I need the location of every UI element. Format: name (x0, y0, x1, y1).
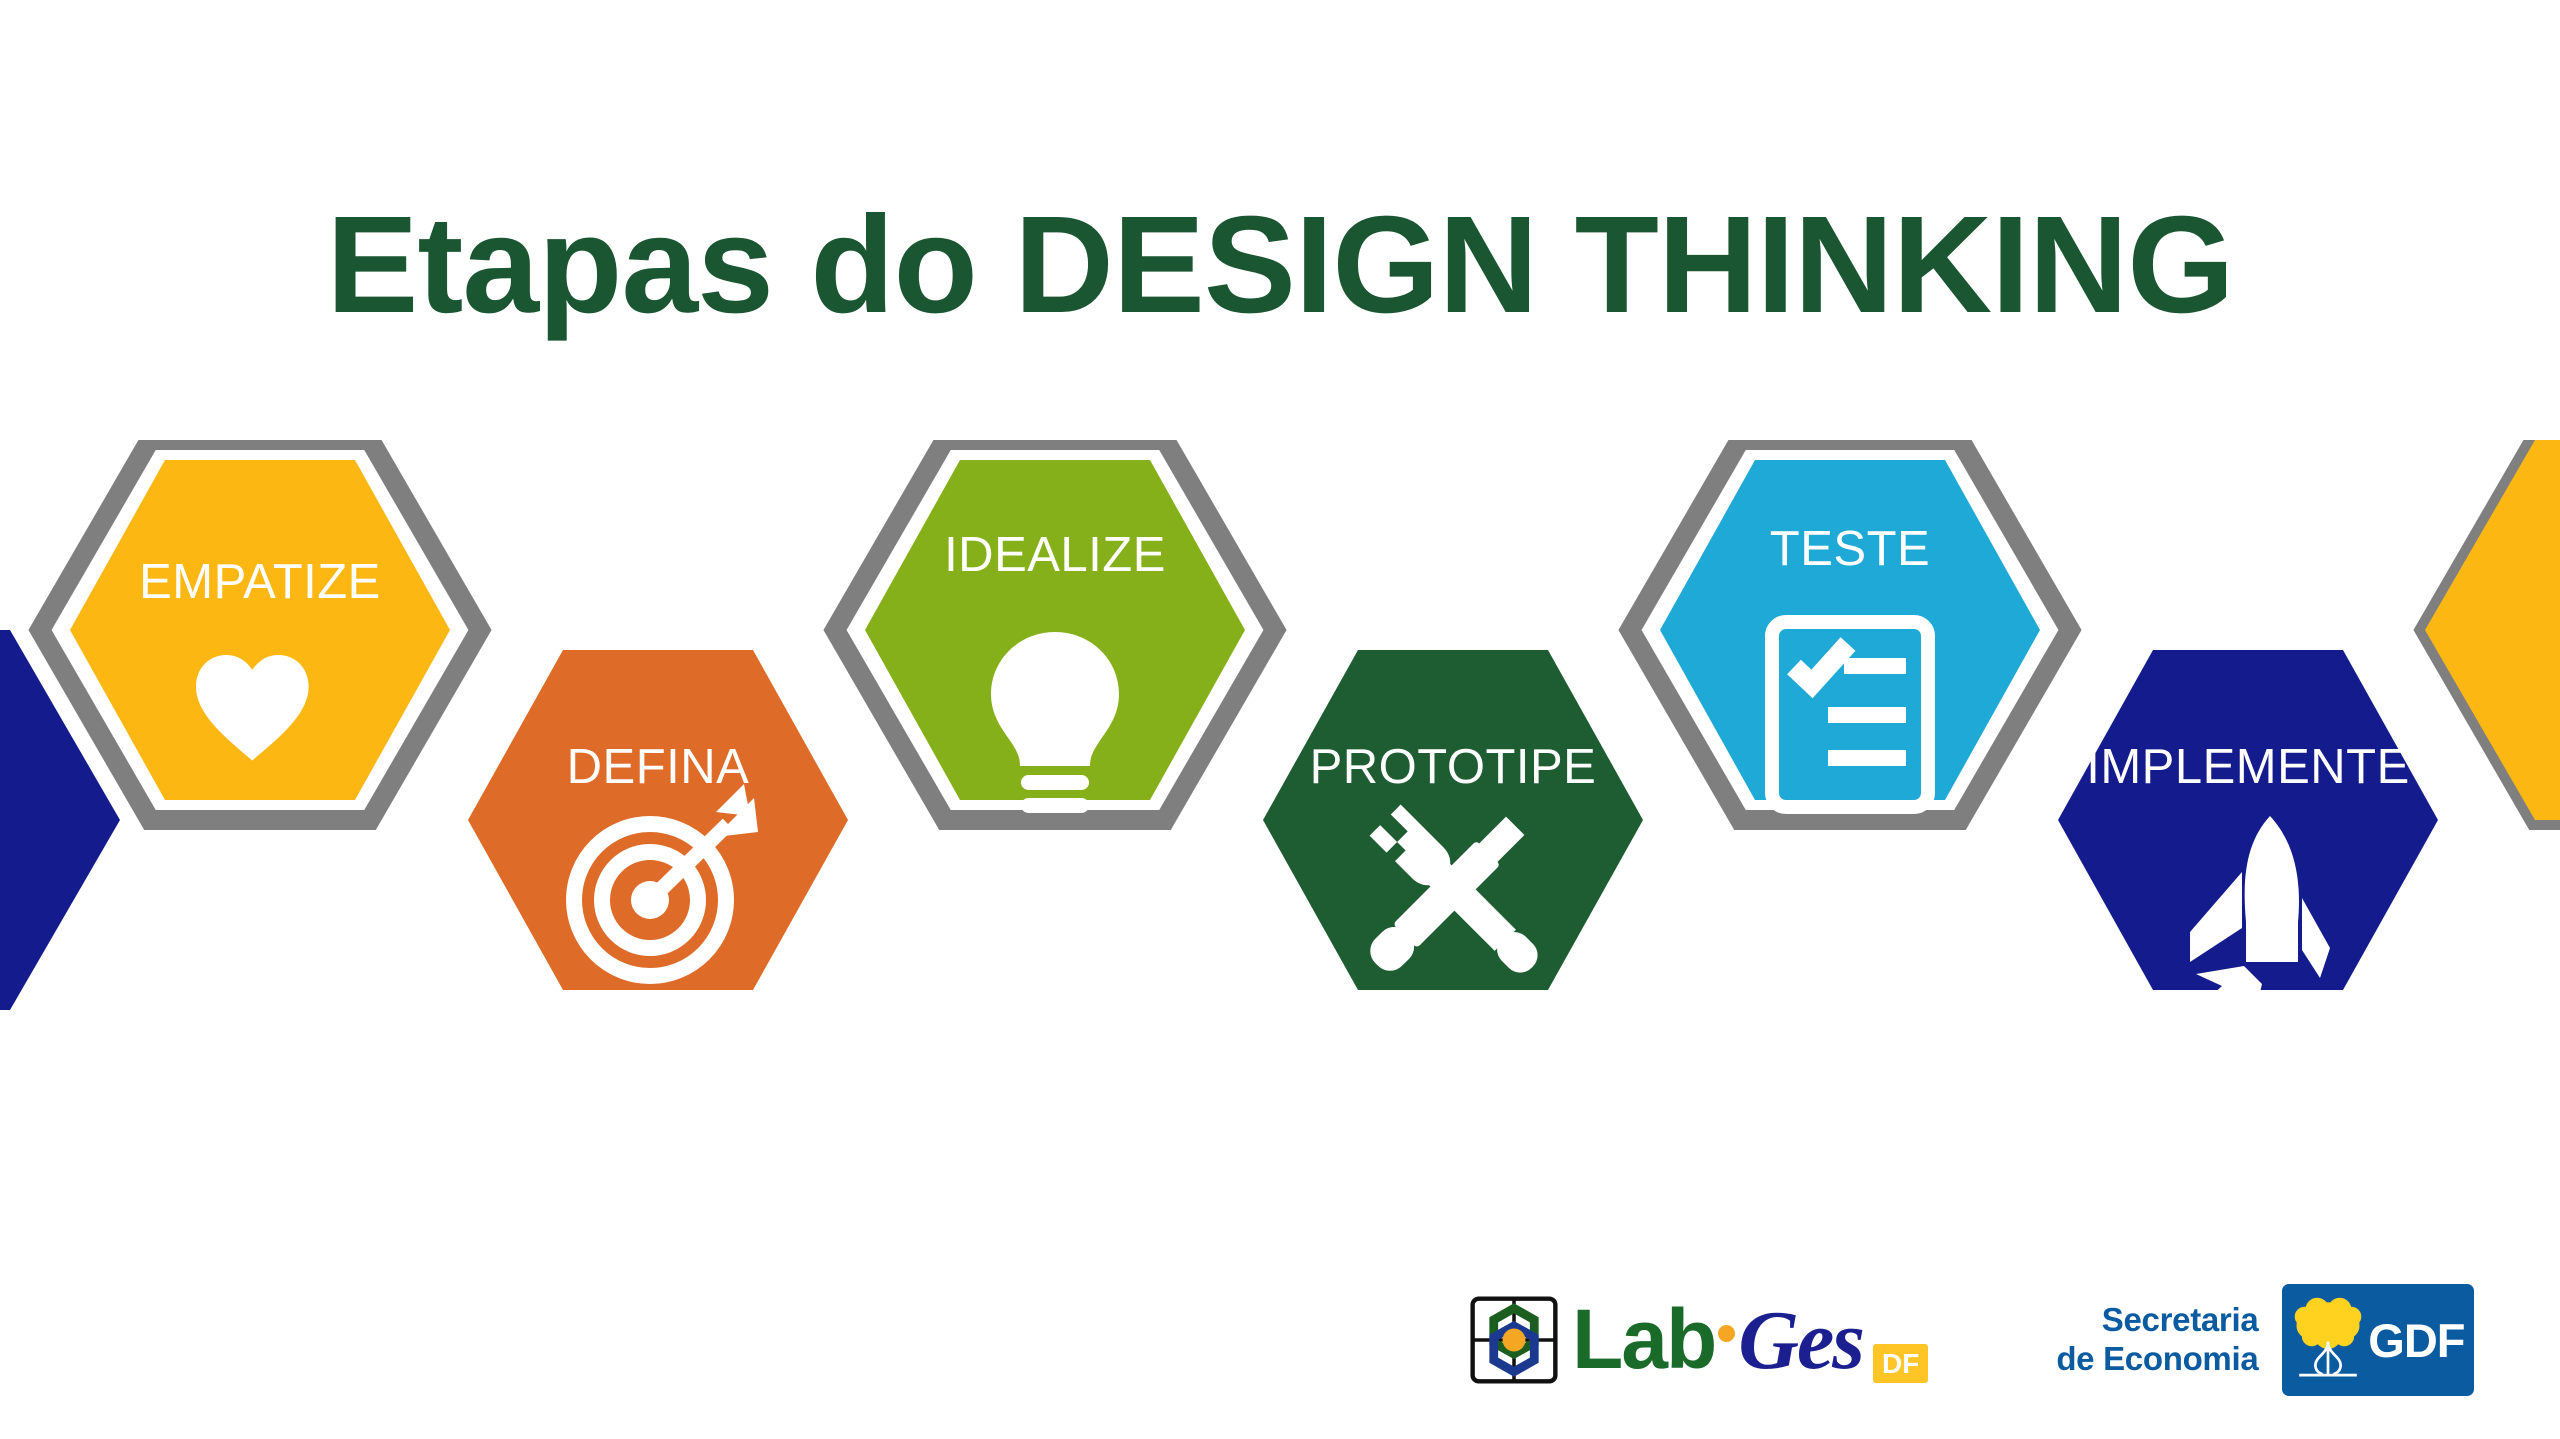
stage-hexagon-empatize[interactable]: EMPATIZE (70, 460, 450, 800)
gdf-text: GDF (2368, 1313, 2464, 1368)
gdf-logo-badge: GDF (2282, 1284, 2474, 1396)
implemente-label: IMPLEMENTE (2086, 740, 2410, 794)
secretaria-de-economia-text: Secretaria de Economia (2056, 1301, 2258, 1379)
teste-label: TESTE (1770, 522, 1930, 576)
empatize-label: EMPATIZE (139, 555, 381, 609)
stage-hexagon-implemente[interactable]: IMPLEMENTE (2058, 650, 2438, 1018)
labges-dot-icon (1718, 1325, 1735, 1342)
ipe-tree-icon (2292, 1295, 2364, 1385)
secretaria-line-2: de Economia (2056, 1340, 2258, 1379)
logo-strip: Lab Ges DF Secretaria de Economia (1470, 1265, 2510, 1415)
stage-hexagon-prototipe[interactable]: PROTOTIPE (1263, 650, 1643, 990)
idealize-label: IDEALIZE (944, 528, 1166, 582)
page-title-text: Etapas do DESIGN THINKING (326, 188, 2233, 342)
page-title: Etapas do DESIGN THINKING (0, 196, 2560, 334)
stage-hexagon-idealize[interactable]: IDEALIZE (865, 460, 1245, 813)
labges-logo: Lab Ges DF (1470, 1291, 1928, 1389)
infographic-canvas: Etapas do DESIGN THINKING (0, 0, 2560, 1439)
stage-hexagon-defina[interactable]: DEFINA (468, 650, 848, 990)
labges-hexagon-cube-mark (1470, 1296, 1558, 1384)
labges-wordmark: Lab Ges DF (1572, 1291, 1928, 1389)
secretaria-line-1: Secretaria (2056, 1301, 2258, 1340)
teste-hexagon-shape[interactable] (1660, 460, 2040, 800)
prototipe-label: PROTOTIPE (1310, 740, 1597, 794)
labges-ges-text: Ges (1738, 1292, 1863, 1389)
hexagon-diagram: EMPATIZE DEFINA (0, 440, 2560, 1200)
labges-df-badge: DF (1873, 1344, 1928, 1383)
stage-hexagon-teste[interactable]: TESTE (1660, 460, 2040, 807)
labges-lab-text: Lab (1572, 1291, 1715, 1388)
prototipe-hexagon-shape[interactable] (1263, 650, 1643, 990)
defina-label: DEFINA (567, 740, 750, 794)
stage-hexagon-band: EMPATIZE DEFINA (0, 440, 2560, 1200)
